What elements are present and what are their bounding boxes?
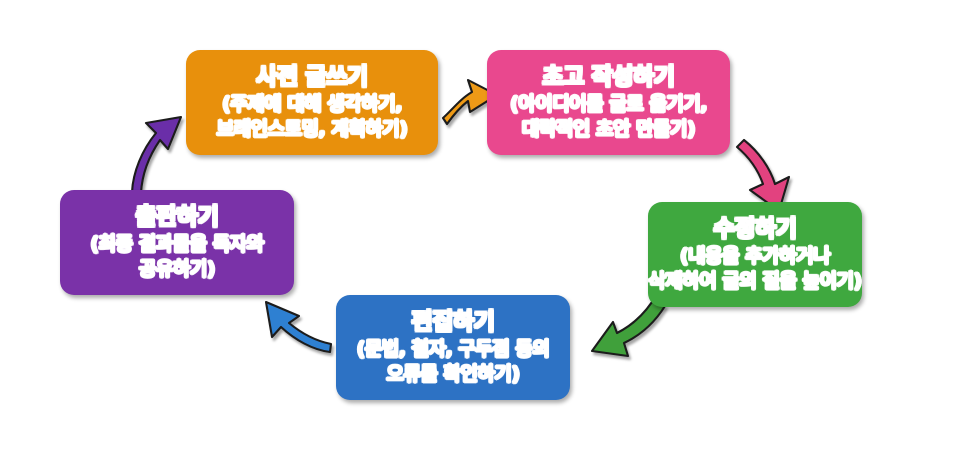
node-prewriting-title: 사전 글쓰기 [256,63,367,91]
arrow-publishing-to-prewriting [132,117,181,193]
node-revising-subtitle: (내용을 추가하거나 삭제하여 글의 질을 높이기) [648,244,861,295]
node-editing-subtitle: (문법, 철자, 구두점 등의 오류를 확인하기) [357,337,550,388]
node-publishing-title: 출판하기 [135,203,218,231]
node-revising-title: 수정하기 [713,215,796,243]
node-publishing-subtitle-line-1: (최종 결과물을 독자와 [90,232,263,257]
node-editing-subtitle-line-1: (문법, 철자, 구두점 등의 [357,337,550,362]
node-publishing-subtitle: (최종 결과물을 독자와 공유하기) [90,232,263,283]
node-prewriting[interactable]: 사전 글쓰기 (주제에 대해 생각하기, 브레인스토밍, 계획하기) [186,50,438,155]
arrow-revising-to-editing [592,302,665,356]
node-editing-subtitle-line-2: 오류를 확인하기) [357,362,550,387]
node-publishing[interactable]: 출판하기 (최종 결과물을 독자와 공유하기) [60,190,294,295]
node-revising-subtitle-line-1: (내용을 추가하거나 [648,244,861,269]
node-prewriting-subtitle-line-1: (주제에 대해 생각하기, [217,92,408,117]
node-editing-title: 편집하기 [411,308,494,336]
node-publishing-subtitle-line-2: 공유하기) [90,257,263,282]
arrow-editing-to-publishing [266,302,331,352]
node-drafting-subtitle: (아이디어를 글로 옮기기, 대략적인 초안 만들기) [510,92,707,143]
node-drafting-title: 초고 작성하기 [542,63,674,91]
node-drafting-subtitle-line-1: (아이디어를 글로 옮기기, [510,92,707,117]
arrow-drafting-to-revising [737,140,789,211]
node-prewriting-subtitle: (주제에 대해 생각하기, 브레인스토밍, 계획하기) [217,92,408,143]
node-revising-subtitle-line-2: 삭제하여 글의 질을 높이기) [648,269,861,294]
node-drafting[interactable]: 초고 작성하기 (아이디어를 글로 옮기기, 대략적인 초안 만들기) [487,50,730,155]
node-drafting-subtitle-line-2: 대략적인 초안 만들기) [510,117,707,142]
node-editing[interactable]: 편집하기 (문법, 철자, 구두점 등의 오류를 확인하기) [336,295,570,400]
diagram-canvas: 사전 글쓰기 (주제에 대해 생각하기, 브레인스토밍, 계획하기) 초고 작성… [0,0,961,454]
node-prewriting-subtitle-line-2: 브레인스토밍, 계획하기) [217,117,408,142]
node-revising[interactable]: 수정하기 (내용을 추가하거나 삭제하여 글의 질을 높이기) [648,202,862,307]
diagram-stage: 사전 글쓰기 (주제에 대해 생각하기, 브레인스토밍, 계획하기) 초고 작성… [0,0,961,454]
